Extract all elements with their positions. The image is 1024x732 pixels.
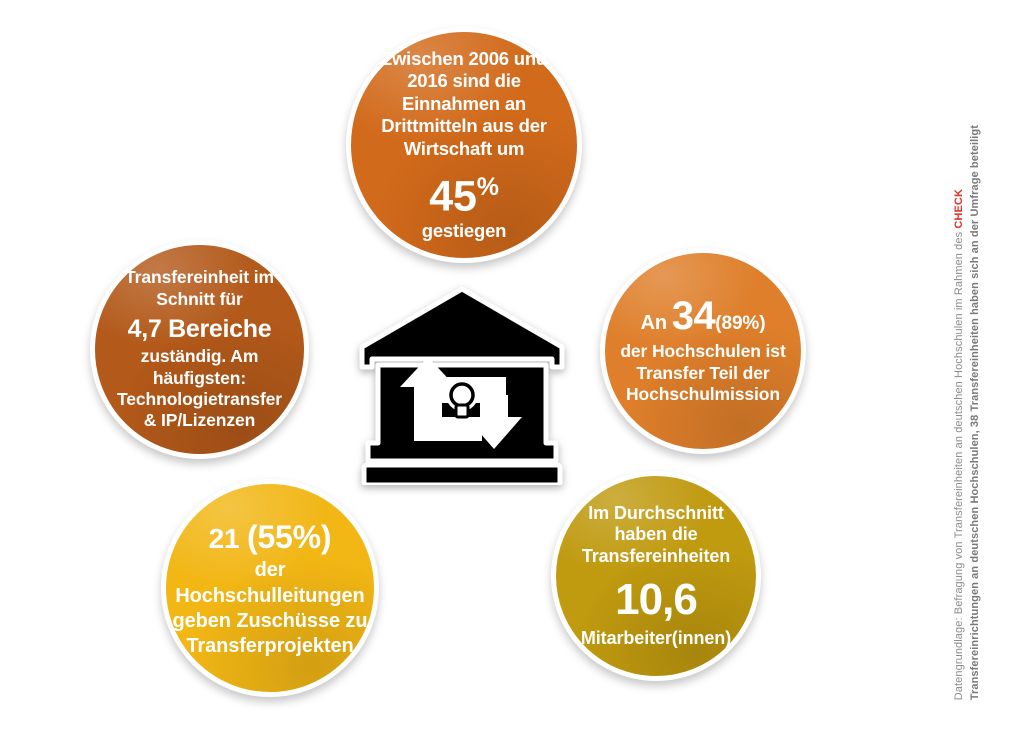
text-line: Hochschulmission (611, 384, 795, 405)
text-line: haben die (562, 524, 750, 546)
text-line: Im Durchschnitt (562, 503, 750, 525)
bubble-bereiche-text: Transfereinheit im Schnitt für 4,7 Berei… (101, 267, 298, 432)
university-transfer-icon (356, 285, 568, 485)
stat-footer: gestiegen (357, 220, 571, 243)
percent-symbol: % (477, 173, 499, 201)
infographic-canvas: Zwischen 2006 und 2016 sind die Einnahme… (0, 0, 1024, 732)
bubble-bereiche[interactable]: Transfereinheit im Schnitt für 4,7 Berei… (90, 240, 309, 459)
text-line: geben Zuschüsse zu (172, 609, 368, 633)
text-line: Transfereinheit im (101, 267, 298, 288)
bubble-drittmittel[interactable]: Zwischen 2006 und 2016 sind die Einnahme… (346, 27, 582, 263)
text-line: 2016 sind die (357, 70, 571, 93)
bubble-zuschuesse-text: 21 (55%) der Hochschulleitungen geben Zu… (172, 517, 368, 659)
stat-value-hochschulmission: An 34(89%) (611, 296, 795, 336)
text-line: Hochschulleitungen (172, 584, 368, 608)
text-line: Drittmitteln aus der (357, 115, 571, 138)
stat-prefix: An (641, 312, 667, 334)
bubble-mitarbeiter-text: Im Durchschnitt haben die Transfereinhei… (562, 503, 750, 650)
text-line: zuständig. Am (101, 346, 298, 367)
stat-number: 4,7 (128, 315, 162, 343)
text-line: Transferprojekten (172, 634, 368, 658)
text-line: Transfer Teil der (611, 363, 795, 384)
stat-footer: Mitarbeiter(innen) (562, 628, 750, 650)
stat-number: 34 (672, 294, 716, 338)
text-line: Einnahmen an (357, 93, 571, 116)
text-line: & IP/Lizenzen (101, 410, 298, 431)
bubble-hochschulmission[interactable]: An 34(89%) der Hochschulen ist Transfer … (600, 248, 806, 454)
bubble-drittmittel-text: Zwischen 2006 und 2016 sind die Einnahme… (357, 48, 571, 243)
stat-value-drittmittel: 45% (357, 175, 571, 219)
stat-value-mitarbeiter: 10,6 (562, 577, 750, 623)
stat-value-zuschuesse: 21 (55%) (172, 518, 368, 557)
bubble-zuschuesse[interactable]: 21 (55%) der Hochschulleitungen geben Zu… (161, 479, 379, 697)
source-note-line-2: Transfereinrichtungen an deutschen Hochs… (968, 125, 984, 700)
text-line: Schnitt für (101, 289, 298, 310)
text-line: Zwischen 2006 und (357, 48, 571, 71)
text-line: häufigsten: (101, 368, 298, 389)
text-line: Technologietransfer (101, 389, 298, 410)
stat-number: 45 (429, 172, 476, 220)
bubble-mitarbeiter[interactable]: Im Durchschnitt haben die Transfereinhei… (551, 471, 761, 681)
stat-value-bereiche: 4,7 Bereiche (101, 314, 298, 345)
source-note-line-1: Datengrundlage: Befragung von Transferei… (952, 189, 968, 700)
stat-percent: (55%) (247, 519, 331, 555)
bubble-hochschulmission-text: An 34(89%) der Hochschulen ist Transfer … (611, 296, 795, 405)
source-note-text: Datengrundlage: Befragung von Transferei… (953, 228, 965, 700)
stat-label: Bereiche (168, 315, 271, 343)
stat-percent: (89%) (715, 313, 765, 334)
text-line: Wirtschaft um (357, 138, 571, 161)
text-line: Transfereinheiten (562, 546, 750, 568)
text-line: der (172, 558, 368, 582)
stat-number: 21 (209, 523, 240, 554)
text-line: der Hochschulen ist (611, 341, 795, 362)
check-brand-label: CHECK (953, 189, 965, 229)
source-note: Datengrundlage: Befragung von Transferei… (952, 0, 1022, 700)
